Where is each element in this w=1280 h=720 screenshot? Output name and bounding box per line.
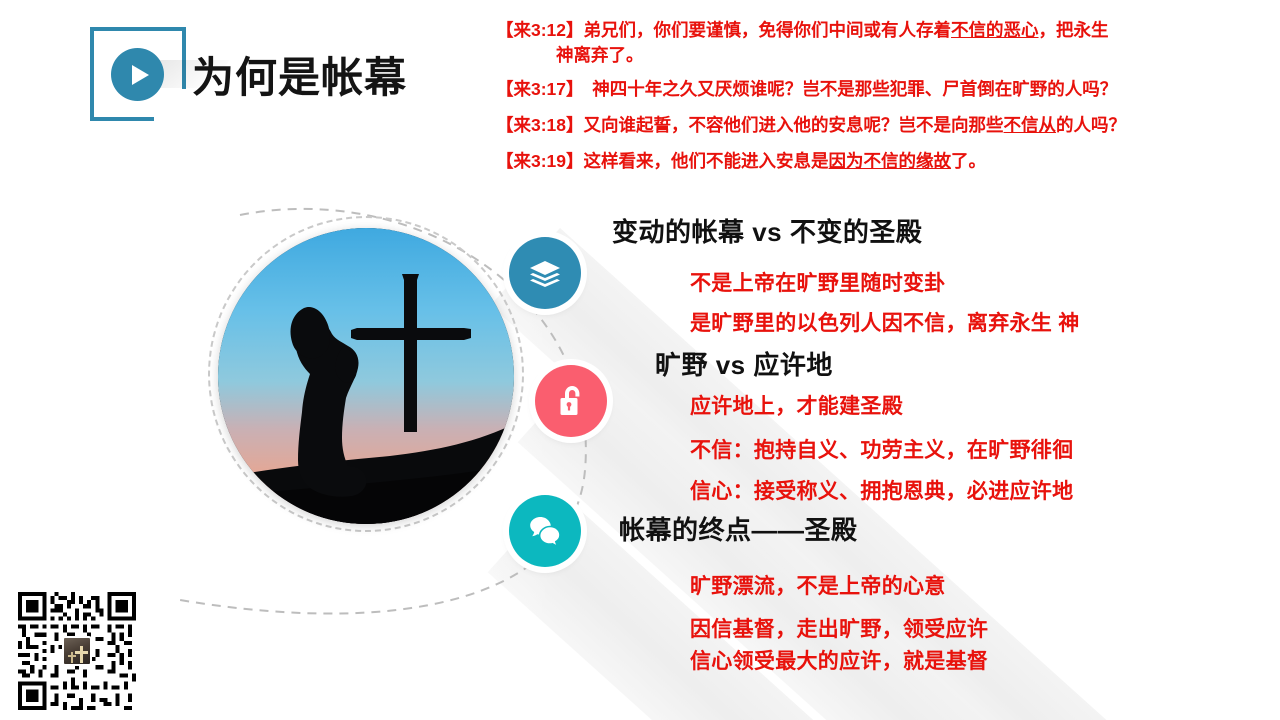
verse-text: 又向谁起誓，不容他们进入他的安息呢？岂不是向那些: [584, 115, 1004, 135]
verse-text: 这样看来，他们不能进入安息是: [584, 151, 829, 171]
verse-reference: 【来3:17】: [496, 79, 575, 99]
verse-heb-3-18: 【来3:18】又向谁起誓，不容他们进入他的安息呢？岂不是向那些不信从的人吗？: [496, 113, 1268, 138]
verse-reference: 【来3:18】: [496, 115, 584, 135]
verse-text-tail: ，把永生: [1039, 20, 1109, 40]
section-body-line: 应许地上，才能建圣殿: [690, 390, 903, 420]
prayer-cross-photo: [218, 228, 514, 524]
cross-vertical: [80, 646, 83, 663]
qr-code[interactable]: [18, 592, 136, 710]
cross-horizontal: [75, 651, 88, 654]
section-heading: 帐幕的终点——圣殿: [619, 510, 858, 547]
verse-reference: 【来3:12】: [496, 20, 584, 40]
verse-reference: 【来3:19】: [496, 151, 584, 171]
section-body-line: 不信：抱持自义、功劳主义，在旷野徘徊: [690, 434, 1073, 464]
verse-heb-3-12: 【来3:12】弟兄们，你们要谨慎，免得你们中间或有人存着不信的恶心，把永生 神离…: [496, 18, 1268, 68]
qr-center-logo: [62, 636, 92, 666]
section-body-line: 因信基督，走出旷野，领受应许: [690, 613, 988, 643]
verse-heb-3-17: 【来3:17】 神四十年之久又厌烦谁呢？岂不是那些犯罪、尸首倒在旷野的人吗？: [496, 77, 1268, 102]
layers-icon[interactable]: [509, 237, 581, 309]
section-body-line: 信心领受最大的应许，就是基督: [690, 645, 988, 675]
verse-underlined-text: 因为不信的缘故: [829, 151, 952, 171]
unlock-icon[interactable]: [535, 365, 607, 437]
section-body-line: 不是上帝在旷野里随时变卦: [690, 267, 946, 297]
section-heading: 旷野 vs 应许地: [655, 345, 833, 382]
verse-continuation: 神离弃了。: [496, 43, 1268, 68]
speech-bubbles-icon[interactable]: [509, 495, 581, 567]
play-triangle: [132, 65, 149, 85]
scripture-block: 【来3:12】弟兄们，你们要谨慎，免得你们中间或有人存着不信的恶心，把永生 神离…: [496, 18, 1268, 174]
verse-heb-3-19: 【来3:19】这样看来，他们不能进入安息是因为不信的缘故了。: [496, 149, 1268, 174]
verse-text: 神四十年之久又厌烦谁呢？岂不是那些犯罪、尸首倒在旷野的人吗？: [575, 79, 1118, 99]
section-body-line: 旷野漂流，不是上帝的心意: [690, 570, 946, 600]
page-title: 为何是帐幕: [192, 44, 407, 105]
cross2-horizontal: [68, 655, 76, 657]
shadow-band-3: [488, 492, 1280, 720]
section-heading: 变动的帐幕 vs 不变的圣殿: [612, 212, 922, 249]
verse-text: 弟兄们，你们要谨慎，免得你们中间或有人存着: [584, 20, 952, 40]
verse-text-tail: 的人吗？: [1056, 115, 1126, 135]
section-body-line: 是旷野里的以色列人因不信，离弃永生 神: [690, 307, 1080, 337]
verse-underlined-text: 不信从: [1004, 115, 1057, 135]
verse-text-tail: 了。: [951, 151, 986, 171]
cross2-vertical: [71, 652, 73, 663]
play-button-icon: [111, 48, 164, 101]
section-body-line: 信心：接受称义、拥抱恩典，必进应许地: [690, 475, 1073, 505]
verse-underlined-text: 不信的恶心: [951, 20, 1039, 40]
photo-container: [218, 228, 514, 524]
